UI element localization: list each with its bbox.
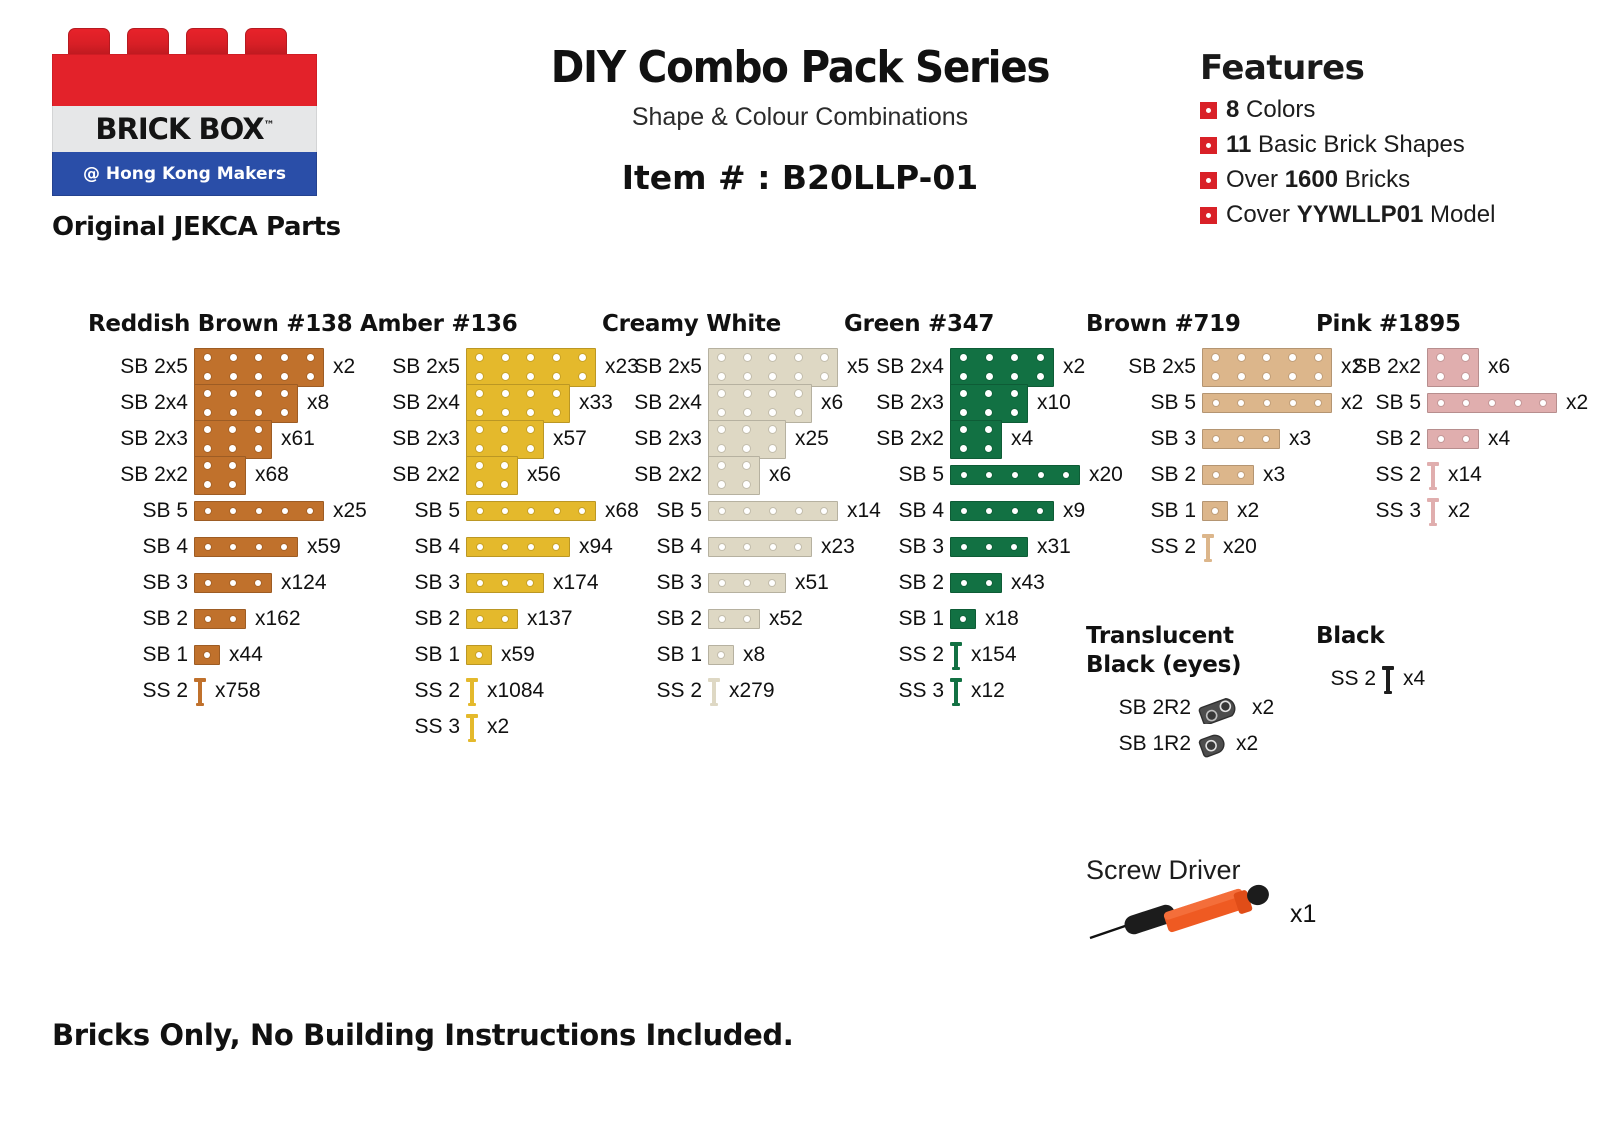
stud-hole [1280,349,1306,368]
stud-hole [544,385,570,404]
stud-hole [272,385,298,404]
brick-plate-icon [950,348,1054,388]
part-label: SB 2x3 [360,427,460,451]
stud-hole [544,349,570,368]
part-icon-wrap [950,537,1028,557]
part-quantity: x2 [1448,499,1470,523]
stud-hole [709,574,734,592]
stud-hole [1228,430,1253,448]
brick-plate-icon [466,537,570,557]
part-icon-wrap [950,501,1054,521]
stud-hole [518,574,543,592]
part-quantity: x2 [1566,391,1588,415]
stud-hole [760,421,785,440]
feature-item: Cover YYWLLP01 Model [1200,201,1580,229]
part-row: SB 2x2x6 [1316,353,1588,382]
part-icon-wrap [194,420,272,460]
brick-plate-icon [950,537,1028,557]
brick-plate-icon [950,465,1080,485]
stud-hole [544,538,570,556]
screwdriver-icon [1086,882,1296,942]
stud-hole [1203,502,1227,520]
color-group-title: Reddish Brown #138 [88,310,367,339]
logo-brand-text: BRICK BOX™ [95,112,273,146]
stud-hole [246,385,272,404]
stud-hole [734,421,759,440]
part-quantity: x758 [215,679,261,703]
brick-plate-icon [708,537,812,557]
part-row: SB 4x23 [602,533,881,562]
stud-hole [195,385,221,404]
part-label: SB 2x5 [1086,355,1196,379]
brick-plate-icon [1202,465,1254,485]
brick-plate-icon [194,348,324,388]
part-label: SB 1 [360,643,460,667]
stud-hole [709,502,735,520]
part-row: SB 3x174 [360,569,639,598]
part-row: SB 2x4x8 [88,389,367,418]
color-group-translucent-black: Translucent Black (eyes)SB 2R2x2SB 1R2x2 [1086,622,1274,766]
part-quantity: x44 [229,643,263,667]
part-icon-wrap [1202,393,1332,413]
part-row: SB 2x3x61 [88,425,367,454]
color-group-green: Green #347SB 2x4x2SB 2x3x10SB 2x2x4SB 5x… [844,310,1123,713]
part-icon-wrap [466,420,544,460]
stud-hole [492,610,517,628]
stud-hole [1479,394,1505,412]
bullet-square-icon [1200,102,1217,119]
screw-pin-icon [708,676,720,706]
part-label: SB 3 [1086,427,1196,451]
part-icon-wrap [950,465,1080,485]
stud-hole [977,466,1003,484]
part-row: SS 3x2 [360,713,639,742]
part-row: SS 3x2 [1316,497,1588,526]
part-icon-wrap [466,456,518,496]
feature-text: Cover YYWLLP01 Model [1226,201,1495,229]
color-group-title: Translucent Black (eyes) [1086,622,1274,680]
part-label: SB 5 [1086,391,1196,415]
part-row: SB 2x4x33 [360,389,639,418]
part-label: SB 2x5 [360,355,460,379]
brand-logo: BRICK BOX™ @ Hong Kong Makers Original J… [52,28,352,242]
part-row: SB 2x4x2 [844,353,1123,382]
screw-pin-icon [1202,532,1214,562]
stud-hole [467,385,493,404]
part-icon-wrap [194,348,324,388]
logo-caption: Original JEKCA Parts [52,212,352,242]
stud-hole [220,475,245,494]
part-quantity: x137 [527,607,573,631]
part-label: SB 2x2 [602,463,702,487]
stud-hole [1254,367,1280,386]
logo-tagline: @ Hong Kong Makers [83,164,286,184]
part-label: SB 2 [844,571,944,595]
logo-stud [127,28,169,54]
part-icon-wrap [1202,501,1228,521]
part-quantity: x61 [281,427,315,451]
part-quantity: x59 [307,535,341,559]
stud-hole [1028,367,1054,386]
part-icon-wrap [466,537,570,557]
color-group-reddish-brown: Reddish Brown #138SB 2x5x2SB 2x4x8SB 2x3… [88,310,367,713]
part-row: SB 4x59 [88,533,367,562]
stud-hole [709,475,734,494]
stud-hole [272,403,298,422]
item-number: Item # : B20LLP-01 [470,158,1130,197]
brick-plate-icon [194,384,298,424]
part-label: SB 2x3 [88,427,188,451]
stud-hole [1428,430,1453,448]
part-label: SS 2 [1316,667,1376,691]
part-row: SB 1x44 [88,641,367,670]
part-label: SB 1R2 [1086,732,1191,756]
brick-plate-icon [708,456,760,496]
logo-red-band [52,54,317,106]
part-label: SB 2x4 [360,391,460,415]
stud-hole [1280,394,1306,412]
brick-plate-icon [708,384,812,424]
stud-hole [976,439,1001,458]
stud-hole [977,502,1003,520]
part-label: SB 2x5 [602,355,702,379]
brick-plate-icon [950,420,1002,460]
stud-hole [734,457,759,476]
stud-hole [1254,349,1280,368]
part-quantity: x2 [1063,355,1085,379]
stud-hole [272,502,298,520]
stud-hole [246,421,271,440]
logo-brick-graphic: BRICK BOX™ @ Hong Kong Makers [52,28,317,196]
part-label: SS 3 [844,679,944,703]
stud-hole [760,502,786,520]
stud-hole [786,349,812,368]
screw-pin-icon [194,676,206,706]
part-label: SB 2x4 [844,355,944,379]
stud-hole [1203,466,1228,484]
part-icon-wrap [466,573,544,593]
feature-item: 11 Basic Brick Shapes [1200,131,1580,159]
brick-plate-icon [466,348,596,388]
stud-hole [467,502,493,520]
part-quantity: x1084 [487,679,544,703]
stud-hole [1002,538,1027,556]
part-label: SB 3 [88,571,188,595]
part-row: SB 3x31 [844,533,1123,562]
part-row: SB 5x20 [844,461,1123,490]
part-icon-wrap [708,456,760,496]
brick-plate-icon [194,420,272,460]
part-icon-wrap [194,645,220,665]
stud-hole [1453,367,1478,386]
stud-hole [976,385,1001,404]
part-label: SB 2 [602,607,702,631]
stud-hole [735,349,761,368]
brick-plate-icon [466,609,518,629]
stud-hole [977,349,1003,368]
part-row: SB 2x2x4 [844,425,1123,454]
brick-plate-icon [950,501,1054,521]
part-row: SB 2x162 [88,605,367,634]
color-group-amber: Amber #136SB 2x5x23SB 2x4x33SB 2x3x57SB … [360,310,639,749]
stud-hole [734,475,759,494]
stud-hole [976,421,1001,440]
stud-hole [1254,430,1279,448]
brick-plate-icon [466,573,544,593]
features-title: Features [1200,48,1580,88]
bullet-square-icon [1200,137,1217,154]
color-group-title: Creamy White [602,310,881,339]
stud-hole [811,349,837,368]
stud-hole [1203,367,1229,386]
part-row: SB 5x25 [88,497,367,526]
stud-hole [951,466,977,484]
part-quantity: x154 [971,643,1017,667]
part-icon-wrap [194,537,298,557]
part-quantity: x6 [1488,355,1510,379]
stud-hole [492,457,517,476]
part-quantity: x9 [1063,499,1085,523]
part-row: SB 2x43 [844,569,1123,598]
stud-hole [246,574,271,592]
stud-hole [467,538,493,556]
eye-plate-2r2-icon [1197,694,1243,722]
screw-pin-icon [1382,664,1394,694]
part-icon-wrap [708,537,812,557]
part-row: SB 3x124 [88,569,367,598]
brick-plate-icon [1202,429,1280,449]
brick-plate-icon [466,384,570,424]
part-label: SB 2x5 [88,355,188,379]
logo-white-band: BRICK BOX™ [52,106,317,152]
part-quantity: x14 [1448,463,1482,487]
part-row: SB 5x2 [1316,389,1588,418]
brick-plate-icon [1202,393,1332,413]
screw-pin-icon [1427,496,1439,526]
stud-hole [951,349,977,368]
part-label: SB 2 [1316,427,1421,451]
stud-hole [1428,394,1454,412]
stud-hole [1453,430,1478,448]
stud-hole [569,367,595,386]
part-label: SS 2 [602,679,702,703]
stud-hole [811,367,837,386]
stud-hole [786,403,812,422]
stud-hole [1002,502,1028,520]
part-quantity: x43 [1011,571,1045,595]
stud-hole [951,502,977,520]
part-quantity: x2 [1237,499,1259,523]
part-icon-wrap [1427,460,1439,490]
brick-plate-icon [708,609,760,629]
color-group-title: Pink #1895 [1316,310,1588,339]
part-icon-wrap [1202,465,1254,485]
part-icon-wrap [466,645,492,665]
stud-hole [221,385,247,404]
stud-hole [1028,502,1054,520]
eye-plate-1r2-icon [1197,731,1227,757]
stud-hole [1453,349,1478,368]
part-label: SB 4 [88,535,188,559]
brick-plate-icon [194,501,324,521]
logo-blue-band: @ Hong Kong Makers [52,152,317,196]
stud-hole [220,421,245,440]
bullet-square-icon [1200,172,1217,189]
part-label: SS 2 [844,643,944,667]
part-icon-wrap [194,384,298,424]
stud-hole [272,349,298,368]
stud-hole [760,538,786,556]
stud-hole [195,421,220,440]
part-row: SB 1x8 [602,641,881,670]
brick-plate-icon [466,501,596,521]
part-quantity: x52 [769,607,803,631]
part-label: SB 1 [602,643,702,667]
stud-hole [735,385,761,404]
stud-hole [709,421,734,440]
stud-hole [467,610,492,628]
brick-plate-icon [466,420,544,460]
stud-hole [220,457,245,476]
part-icon-wrap [950,420,1002,460]
part-quantity: x162 [255,607,301,631]
stud-hole [786,502,812,520]
stud-hole [760,574,785,592]
part-row: SB 2R2x2 [1086,694,1274,723]
part-quantity: x57 [553,427,587,451]
part-label: SS 3 [1316,499,1421,523]
stud-hole [1053,466,1079,484]
color-group-creamy-white: Creamy WhiteSB 2x5x5SB 2x4x6SB 2x3x25SB … [602,310,881,713]
part-quantity: x25 [795,427,829,451]
part-row: SS 2x4 [1316,665,1425,694]
part-quantity: x2 [1252,696,1274,720]
stud-hole [811,502,837,520]
part-label: SB 2 [360,607,460,631]
part-icon-wrap [1202,532,1214,562]
part-label: SB 1 [844,607,944,631]
part-row: SB 2x52 [602,605,881,634]
stud-hole [221,538,247,556]
page-title: DIY Combo Pack Series [496,42,1103,93]
part-quantity: x56 [527,463,561,487]
part-row: SS 2x758 [88,677,367,706]
stud-hole [1280,367,1306,386]
part-row: SB 1R2x2 [1086,730,1274,759]
part-label: SB 2 [88,607,188,631]
trademark-symbol: ™ [264,118,274,131]
feature-item: 8 Colors [1200,96,1580,124]
brick-plate-icon [194,573,272,593]
color-group-pink: Pink #1895SB 2x2x6SB 5x2SB 2x4SS 2x14SS … [1316,310,1588,533]
footer-note: Bricks Only, No Building Instructions In… [52,1018,793,1052]
logo-stud [68,28,110,54]
stud-hole [709,610,734,628]
stud-hole [492,475,517,494]
stud-hole [195,475,220,494]
part-label: SB 3 [844,535,944,559]
stud-hole [951,538,976,556]
brick-plate-icon [1427,393,1557,413]
part-label: SB 2x3 [844,391,944,415]
brick-plate-icon [1427,348,1479,388]
brick-plate-icon [950,384,1028,424]
part-icon-wrap [1197,694,1243,722]
part-row: SB 1x59 [360,641,639,670]
stud-hole [1028,466,1054,484]
part-label: SB 1 [1086,499,1196,523]
part-row: SS 2x14 [1316,461,1588,490]
stud-hole [518,538,544,556]
part-row: SB 1x18 [844,605,1123,634]
stud-hole [1203,349,1229,368]
stud-hole [246,349,272,368]
part-row: SB 2x4x6 [602,389,881,418]
part-row: SB 2x3x10 [844,389,1123,418]
part-icon-wrap [466,609,518,629]
part-icon-wrap [466,501,596,521]
part-icon-wrap [466,348,596,388]
stud-hole [195,457,220,476]
features-panel: Features 8 Colors11 Basic Brick ShapesOv… [1200,48,1580,236]
part-row: SB 5x14 [602,497,881,526]
part-quantity: x2 [487,715,509,739]
stud-hole [1002,403,1027,422]
part-label: SB 4 [360,535,460,559]
stud-hole [760,349,786,368]
part-icon-wrap [708,420,786,460]
part-quantity: x51 [795,571,829,595]
color-group-black: BlackSS 2x4 [1316,622,1425,701]
part-icon-wrap [1427,496,1439,526]
brick-plate-icon [708,573,786,593]
stud-hole [709,349,735,368]
part-row: SS 3x12 [844,677,1123,706]
stud-hole [467,421,492,440]
part-label: SB 2x2 [88,463,188,487]
part-quantity: x2 [333,355,355,379]
brick-plate-icon [194,537,298,557]
part-row: SB 3x51 [602,569,881,598]
part-quantity: x4 [1011,427,1033,451]
stud-hole [951,421,976,440]
stud-hole [272,538,298,556]
logo-stud [245,28,287,54]
feature-text: 8 Colors [1226,96,1315,124]
part-quantity: x279 [729,679,775,703]
part-label: SB 5 [602,499,702,523]
stud-hole [1229,367,1255,386]
part-label: SB 2x4 [602,391,702,415]
part-label: SS 2 [1086,535,1196,559]
header: DIY Combo Pack Series Shape & Colour Com… [470,42,1130,197]
color-group-title: Green #347 [844,310,1123,339]
features-list: 8 Colors11 Basic Brick ShapesOver 1600 B… [1200,96,1580,229]
part-label: SB 5 [844,463,944,487]
logo-stud [186,28,228,54]
stud-hole [735,538,761,556]
stud-hole [1002,349,1028,368]
stud-hole [569,502,595,520]
part-icon-wrap [194,456,246,496]
stud-hole [221,502,247,520]
stud-hole [195,646,219,664]
part-row: SB 2x137 [360,605,639,634]
stud-hole [467,646,491,664]
part-icon-wrap [708,676,720,706]
part-label: SS 3 [360,715,460,739]
stud-hole [518,385,544,404]
